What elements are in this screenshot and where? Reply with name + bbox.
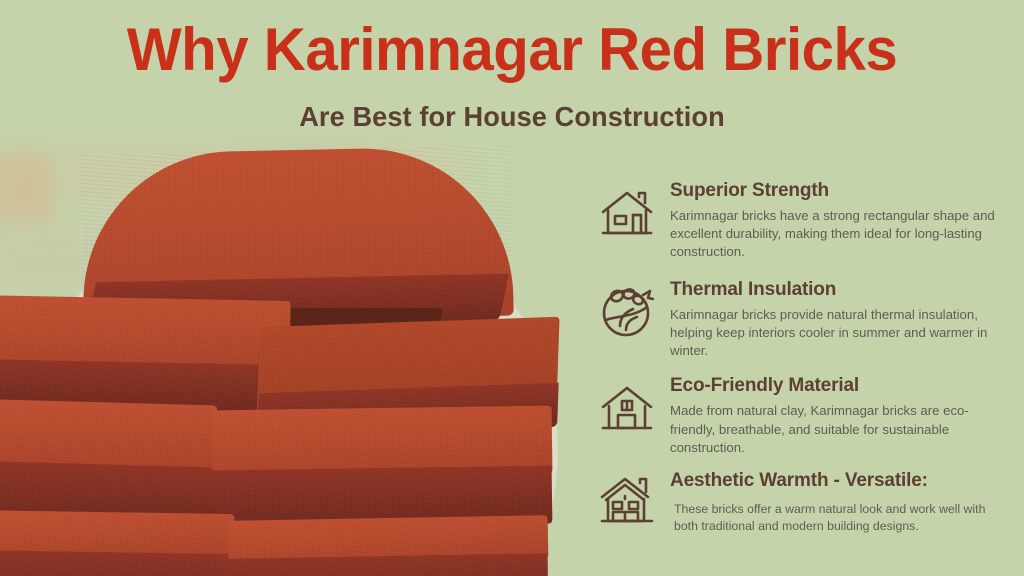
feature-item-thermal-insulation: Thermal Insulation Karimnagar bricks pro… — [598, 279, 1010, 361]
house-with-chimney-icon — [598, 184, 656, 242]
brick-row3-left — [0, 402, 216, 520]
feature-body: Karimnagar bricks have a strong rectangu… — [670, 207, 1010, 262]
brick-row4-right — [228, 518, 548, 576]
feature-body: Karimnagar bricks provide natural therma… — [670, 306, 1010, 361]
feature-title: Aesthetic Warmth - Versatile: — [670, 470, 1010, 492]
feature-body: These bricks offer a warm natural look a… — [670, 501, 1010, 536]
brick-top — [82, 150, 512, 320]
feature-title: Eco-Friendly Material — [670, 375, 1010, 397]
feature-list: Superior Strength Karimnagar bricks have… — [598, 180, 1010, 552]
feature-item-aesthetic-warmth: Aesthetic Warmth - Versatile: These bric… — [598, 470, 1010, 536]
feature-title: Superior Strength — [670, 180, 1010, 202]
feature-body: Made from natural clay, Karimnagar brick… — [670, 402, 1010, 457]
brick-stack-image — [0, 140, 600, 576]
feature-item-superior-strength: Superior Strength Karimnagar bricks have… — [598, 180, 1010, 262]
feature-item-eco-friendly-material: Eco-Friendly Material Made from natural … — [598, 375, 1010, 457]
page-subtitle: Are Best for House Construction — [15, 101, 1008, 133]
brick-row3-right — [212, 408, 552, 526]
thermal-leaf-badge-icon — [598, 283, 656, 341]
infographic-canvas: Why Karimnagar Red Bricks Are Best for H… — [0, 0, 1024, 576]
brick-row2-left — [0, 298, 290, 408]
barn-house-icon — [598, 379, 656, 437]
feature-title: Thermal Insulation — [670, 279, 1010, 301]
page-title: Why Karimnagar Red Bricks — [15, 18, 1008, 81]
brick-row4-left — [0, 512, 234, 576]
two-story-house-icon — [598, 472, 656, 530]
